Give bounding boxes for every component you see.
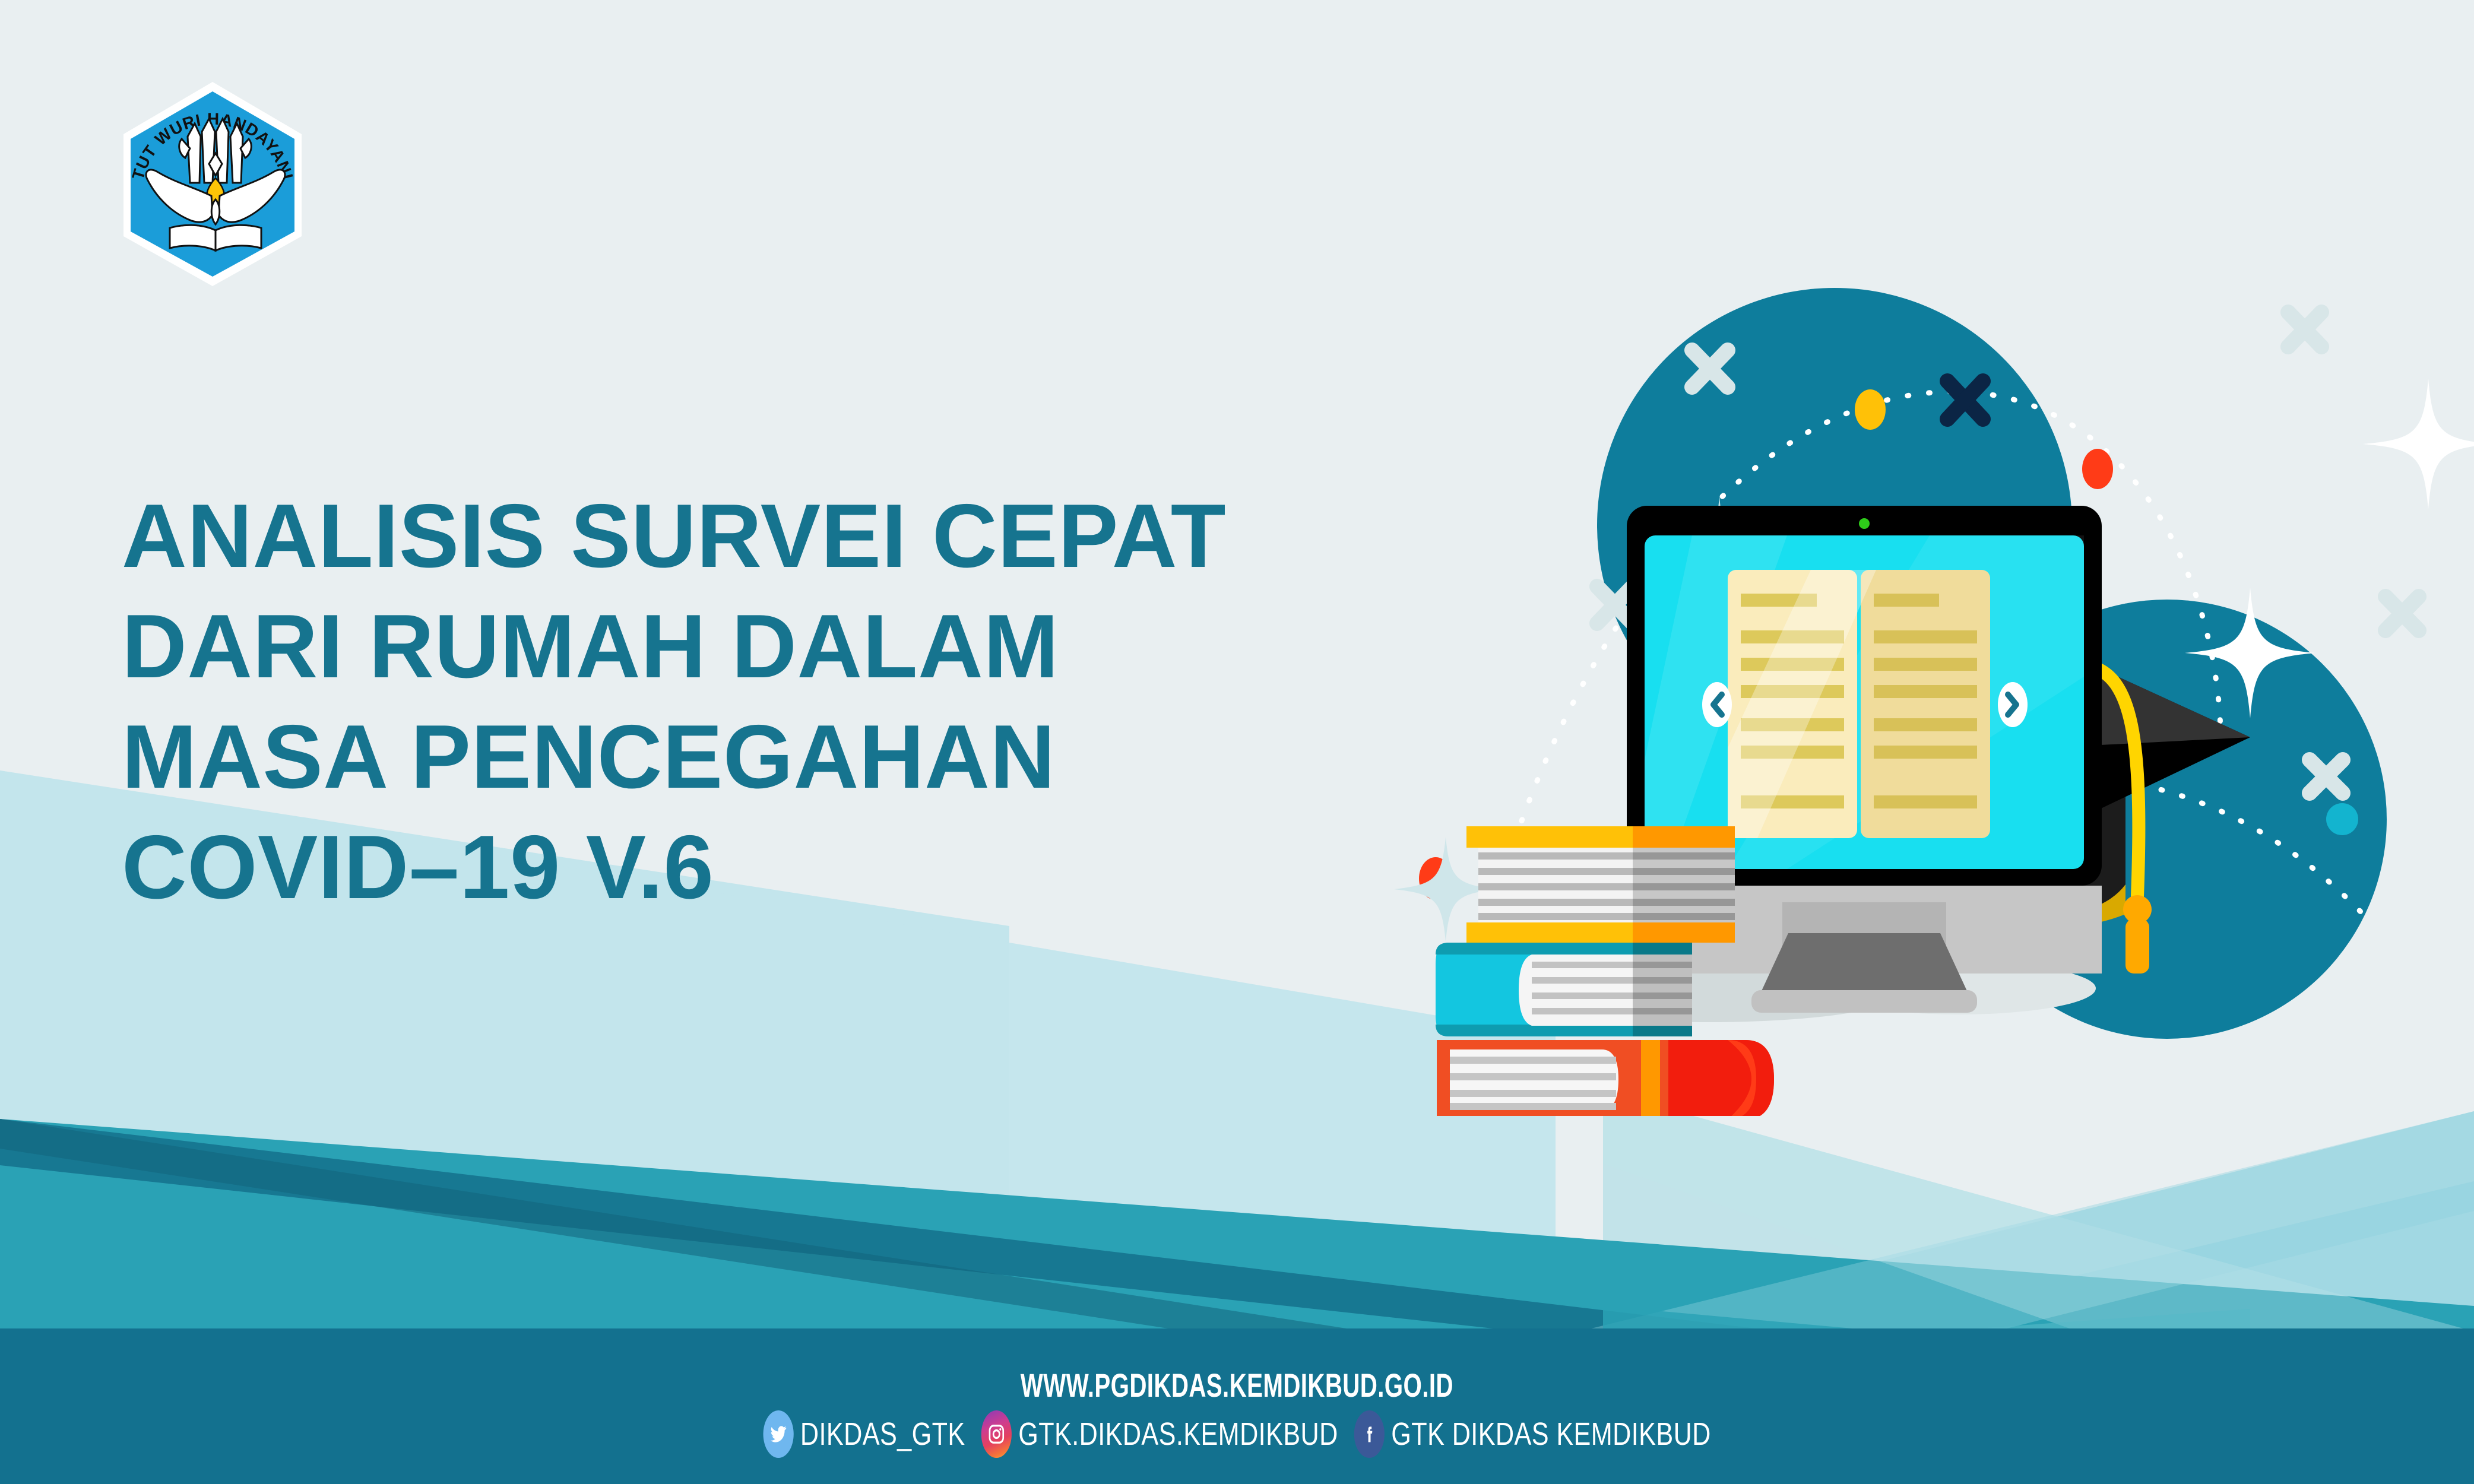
social-handle-twitter: DIKDAS_GTK [800, 1416, 965, 1453]
social-link-instagram[interactable]: GTK.DIKDAS.KEMDIKBUD [981, 1410, 1338, 1458]
social-handle-instagram: GTK.DIKDAS.KEMDIKBUD [1018, 1416, 1338, 1453]
poster-canvas: TUT WURI HANDAYANI [0, 0, 2474, 1484]
instagram-icon [981, 1410, 1012, 1458]
monitor-stand [1759, 933, 1970, 997]
dot-cyan [2326, 803, 2358, 835]
ebook-prev-button[interactable] [1702, 682, 1732, 727]
twitter-icon [763, 1410, 793, 1458]
footer-bar: WWW.PGDIKDAS.KEMDIKBUD.GO.ID DIKDAS_GTK [0, 1328, 2474, 1484]
book-red [1437, 1040, 1774, 1116]
facebook-icon [1354, 1410, 1385, 1458]
ebook-next-button[interactable] [1998, 682, 2028, 727]
tut-wuri-handayani-icon: TUT WURI HANDAYANI [106, 77, 319, 291]
social-links-row: DIKDAS_GTK GTK.DIKDAS.KEMDIKBUD [763, 1410, 1710, 1458]
dot-red [2082, 449, 2113, 489]
footer-website-url[interactable]: WWW.PGDIKDAS.KEMDIKBUD.GO.ID [1021, 1366, 1453, 1404]
book-cyan [1436, 943, 1692, 1036]
social-handle-facebook: GTK DIKDAS KEMDIKBUD [1391, 1416, 1710, 1453]
kemendikbud-logo: TUT WURI HANDAYANI [106, 77, 319, 291]
book-yellow [1466, 826, 1735, 943]
monitor-base [1751, 990, 1977, 1013]
x-mark-pale-3 [2288, 312, 2321, 347]
dot-yellow [1855, 389, 1886, 430]
monitor-camera-dot [1859, 518, 1870, 529]
illustration-svg [1276, 226, 2474, 1116]
social-link-twitter[interactable]: DIKDAS_GTK [763, 1410, 965, 1458]
social-link-facebook[interactable]: GTK DIKDAS KEMDIKBUD [1354, 1410, 1711, 1458]
x-mark-pale-4 [2386, 597, 2419, 630]
sparkle-white-1 [2363, 379, 2474, 509]
education-illustration [1276, 226, 2474, 1116]
